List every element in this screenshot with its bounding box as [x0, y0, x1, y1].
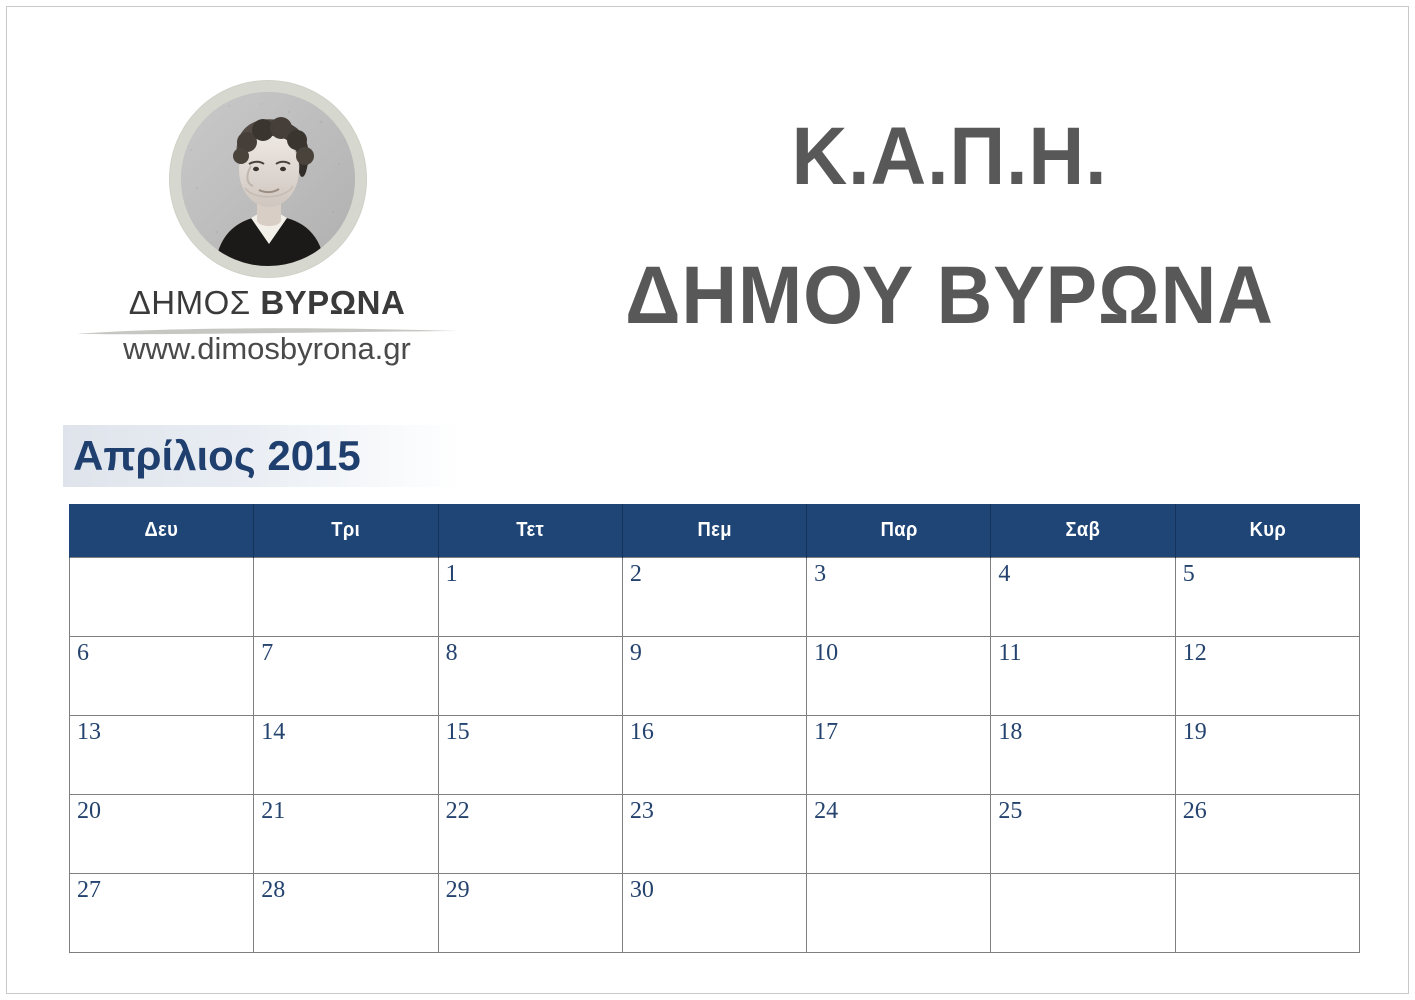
calendar-day-cell-14[interactable]: 14 — [254, 715, 438, 794]
calendar-day-cell-empty[interactable] — [807, 873, 991, 952]
calendar-weekday-6: Κυρ — [1175, 504, 1359, 557]
calendar-day-cell-26[interactable]: 26 — [1175, 794, 1359, 873]
calendar-weekday-label: Σαβ — [1066, 519, 1101, 542]
calendar-day-cell-7[interactable]: 7 — [254, 636, 438, 715]
calendar-day-cell-6[interactable]: 6 — [70, 636, 254, 715]
calendar-day-cell-21[interactable]: 21 — [254, 794, 438, 873]
calendar-weekday-1: Τρι — [254, 504, 438, 557]
calendar-day-cell-10[interactable]: 10 — [807, 636, 991, 715]
calendar-week-row: 27282930 — [70, 873, 1360, 952]
logo-name: ΔΗΜΟΣ ΒΥΡΩΝΑ — [67, 284, 467, 322]
calendar-week-row: 13141516171819 — [70, 715, 1360, 794]
logo-url: www.dimosbyrona.gr — [67, 331, 467, 367]
page-title: Κ.Α.Π.Η. ΔΗΜΟΥ ΒΥΡΩΝΑ — [527, 113, 1372, 340]
calendar-weekday-label: Πεμ — [697, 519, 731, 542]
calendar-day-cell-4[interactable]: 4 — [991, 557, 1175, 636]
calendar-weekday-0: Δευ — [70, 504, 254, 557]
calendar-weekday-label: Τρι — [331, 519, 360, 542]
calendar-day-cell-28[interactable]: 28 — [254, 873, 438, 952]
page-sheet: ΔΗΜΟΣ ΒΥΡΩΝΑ www.dimosbyrona.gr Κ.Α.Π.Η.… — [6, 6, 1409, 994]
calendar-week-row: 6789101112 — [70, 636, 1360, 715]
calendar-day-cell-9[interactable]: 9 — [622, 636, 806, 715]
calendar-weekday-label: Τετ — [516, 519, 544, 542]
calendar-day-cell-19[interactable]: 19 — [1175, 715, 1359, 794]
calendar-day-cell-24[interactable]: 24 — [807, 794, 991, 873]
calendar-day-cell-8[interactable]: 8 — [438, 636, 622, 715]
calendar-weekday-label: Παρ — [880, 519, 917, 542]
calendar-day-cell-20[interactable]: 20 — [70, 794, 254, 873]
month-title-label: Απρίλιος 2015 — [63, 432, 361, 480]
calendar-weekday-label: Κυρ — [1249, 519, 1285, 542]
calendar-weekday-5: Σαβ — [991, 504, 1175, 557]
title-line-2: ΔΗΜΟΥ ΒΥΡΩΝΑ — [552, 252, 1346, 341]
calendar-day-cell-17[interactable]: 17 — [807, 715, 991, 794]
calendar-week-row: 12345 — [70, 557, 1360, 636]
calendar-day-cell-12[interactable]: 12 — [1175, 636, 1359, 715]
calendar-day-cell-27[interactable]: 27 — [70, 873, 254, 952]
calendar-table: ΔευΤριΤετΠεμΠαρΣαβΚυρ 123456789101112131… — [69, 504, 1360, 953]
calendar-day-cell-23[interactable]: 23 — [622, 794, 806, 873]
calendar-day-cell-13[interactable]: 13 — [70, 715, 254, 794]
calendar-day-cell-3[interactable]: 3 — [807, 557, 991, 636]
calendar-day-cell-25[interactable]: 25 — [991, 794, 1175, 873]
calendar-week-row: 20212223242526 — [70, 794, 1360, 873]
calendar-day-cell-empty[interactable] — [254, 557, 438, 636]
calendar-day-cell-empty[interactable] — [1175, 873, 1359, 952]
calendar-day-cell-1[interactable]: 1 — [438, 557, 622, 636]
title-line-1: Κ.Α.Π.Η. — [552, 113, 1346, 202]
calendar-weekday-4: Παρ — [807, 504, 991, 557]
calendar-day-cell-5[interactable]: 5 — [1175, 557, 1359, 636]
lord-byron-portrait-icon — [181, 92, 355, 266]
municipality-logo: ΔΗΜΟΣ ΒΥΡΩΝΑ www.dimosbyrona.gr — [67, 81, 467, 393]
calendar-day-cell-22[interactable]: 22 — [438, 794, 622, 873]
calendar-body: 1234567891011121314151617181920212223242… — [70, 557, 1360, 952]
document-header: ΔΗΜΟΣ ΒΥΡΩΝΑ www.dimosbyrona.gr Κ.Α.Π.Η.… — [7, 7, 1408, 399]
calendar-day-cell-2[interactable]: 2 — [622, 557, 806, 636]
calendar-day-cell-15[interactable]: 15 — [438, 715, 622, 794]
calendar-weekday-2: Τετ — [438, 504, 622, 557]
calendar-day-cell-16[interactable]: 16 — [622, 715, 806, 794]
logo-name-bold: ΒΥΡΩΝΑ — [260, 284, 405, 321]
calendar-day-cell-29[interactable]: 29 — [438, 873, 622, 952]
calendar-day-cell-empty[interactable] — [991, 873, 1175, 952]
calendar-weekday-label: Δευ — [145, 519, 179, 542]
calendar-day-cell-30[interactable]: 30 — [622, 873, 806, 952]
calendar-weekday-header-row: ΔευΤριΤετΠεμΠαρΣαβΚυρ — [70, 504, 1360, 557]
month-title-banner: Απρίλιος 2015 — [63, 425, 463, 487]
calendar-day-cell-11[interactable]: 11 — [991, 636, 1175, 715]
logo-portrait-frame — [170, 81, 366, 277]
calendar-weekday-3: Πεμ — [622, 504, 806, 557]
calendar-day-cell-empty[interactable] — [70, 557, 254, 636]
logo-name-light: ΔΗΜΟΣ — [129, 284, 251, 321]
calendar-day-cell-18[interactable]: 18 — [991, 715, 1175, 794]
